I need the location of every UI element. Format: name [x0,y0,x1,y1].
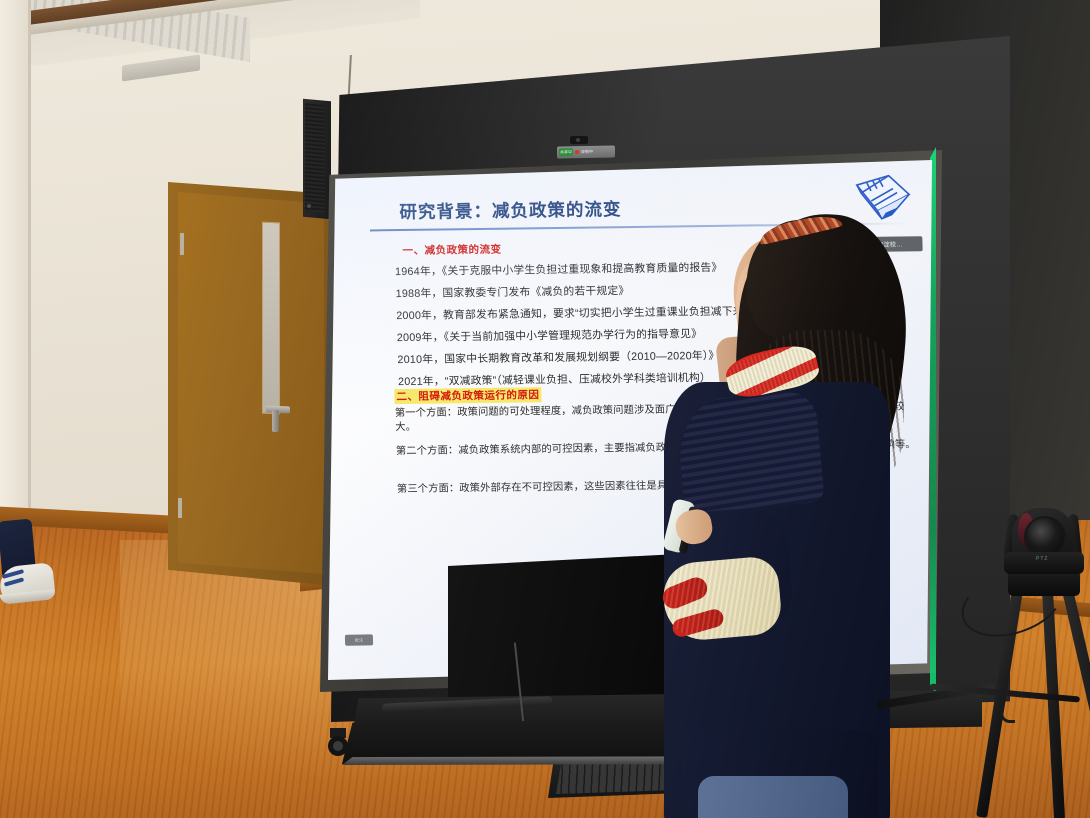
door-lock[interactable] [272,410,279,432]
classroom-door[interactable] [178,192,324,578]
section-two-heading: 二、阻碍减负政策运行的原因 [394,387,541,404]
jeans [698,776,848,818]
sleeve-knit-texture [661,555,783,643]
slide-annotate-button[interactable]: 批注 [345,634,373,645]
slide-annotate-label: 批注 [355,637,364,643]
recording-dot-icon [575,150,579,154]
slide-title: 研究背景：减负政策的流变 [399,196,622,224]
speaker-led [307,204,311,208]
section-one-heading: 一、减负政策的流变 [402,242,501,258]
sweater-shoulder-knit [675,390,824,514]
share-status-chip: 共享中 [559,148,573,156]
meeting-status-toolbar[interactable]: 共享中 录制中 [557,145,615,158]
door-vision-panel [262,222,280,415]
classroom-presentation-photo: 共享中 录制中 研究背景：减负政策的流变 [0,0,1090,818]
presenter [640,210,890,818]
caster-wheel-icon [322,724,356,758]
camera-brand-label: PTZ [1036,556,1048,562]
speaker-grille [305,103,325,213]
tripod-hook [1000,700,1015,723]
wall-corner-edge [28,0,31,560]
camera-lens-icon [576,138,580,142]
recording-status-text: 录制中 [581,148,593,156]
door-hinge-top [180,233,184,255]
left-wall [0,0,30,560]
timeline-line-1988: 1988年，国家教委专门发布《减负的若干规定》 [395,282,629,301]
door-hinge-bottom [178,498,182,518]
